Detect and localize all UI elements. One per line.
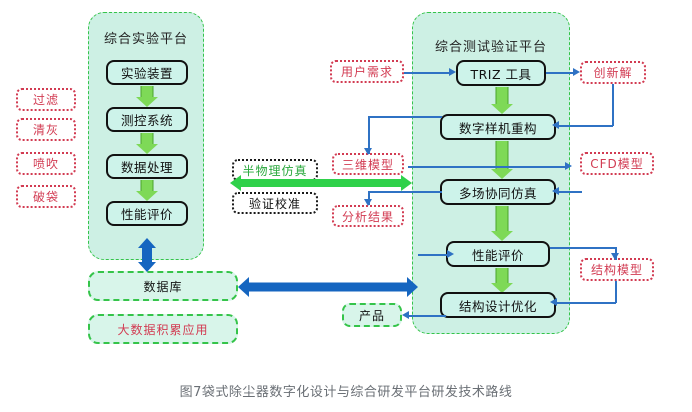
left-platform-title: 综合实验平台 (88, 28, 204, 47)
right-tag-innovative-solution: 创新解 (580, 61, 646, 84)
center-tag-3d-model: 三维模型 (332, 153, 404, 175)
right-flow-arrow-1 (490, 87, 514, 114)
left-platform-database-link (136, 238, 158, 272)
right-platform-title: 综合测试验证平台 (412, 36, 570, 55)
figure-canvas: 综合实验平台 实验装置 测控系统 数据处理 性能评价 过滤 清灰 喷吹 破袋 半… (0, 0, 692, 412)
right-step-2: 数字样机重构 (440, 114, 556, 140)
bottom-box-product: 产品 (342, 303, 402, 327)
line-prototype-out-left (408, 166, 566, 168)
line-structure-model-down (615, 281, 617, 303)
arrowhead-performance-in (447, 250, 454, 258)
right-tag-cfd-model: CFD模型 (580, 152, 654, 175)
arrowhead-prototype-in-right (552, 121, 559, 129)
left-step-3: 数据处理 (106, 154, 188, 179)
line-prototype-to-3d-model (368, 116, 442, 118)
arrowhead-multifield-in-right (552, 187, 559, 195)
database-right-platform-link (238, 276, 418, 297)
semi-physical-simulation-arrow (230, 174, 412, 191)
line-performance-to-structure (550, 247, 616, 249)
bottom-box-big-data-application: 大数据积累应用 (88, 314, 238, 344)
line-structure-to-optimization (556, 302, 616, 304)
left-step-1: 实验装置 (106, 60, 188, 85)
right-step-1: TRIZ 工具 (456, 60, 546, 86)
left-tag-pulse-jet: 喷吹 (16, 152, 76, 175)
line-multifield-out-left (368, 191, 442, 193)
left-flow-arrow-2 (136, 133, 158, 154)
arrowhead-optimization-in-right (550, 298, 557, 306)
right-flow-arrow-3 (490, 206, 514, 241)
line-triz-to-innovation (546, 72, 574, 74)
right-step-4: 性能评价 (446, 241, 550, 267)
figure-caption: 图7袋式除尘器数字化设计与综合研发平台研发技术路线 (0, 381, 692, 400)
line-cfd-to-multifield (558, 191, 582, 193)
line-optimization-to-product (408, 315, 446, 317)
left-step-2: 测控系统 (106, 107, 188, 132)
arrowhead-prototype-out-right (565, 162, 572, 170)
center-tag-analysis-result: 分析结果 (332, 205, 404, 227)
input-tag-user-requirement: 用户需求 (330, 60, 404, 83)
arrowhead-innovation-in (573, 68, 580, 76)
left-tag-filtration: 过滤 (16, 88, 76, 111)
line-performance-in-left (418, 254, 448, 256)
line-innovation-down (612, 84, 614, 126)
middle-tag-verification-calibration: 验证校准 (232, 192, 318, 214)
left-flow-arrow-1 (136, 86, 158, 107)
bottom-box-database: 数据库 (88, 271, 238, 301)
arrowhead-triz-in (449, 68, 456, 76)
left-tag-bag-rupture: 破袋 (16, 185, 76, 208)
arrowhead-product-in (402, 311, 409, 319)
right-tag-structure-model: 结构模型 (580, 258, 654, 281)
right-flow-arrow-4 (490, 268, 514, 293)
right-step-5: 结构设计优化 (440, 292, 556, 318)
arrowhead-3d-model-in (364, 148, 372, 155)
right-flow-arrow-2 (490, 141, 514, 179)
line-innovation-to-prototype (558, 125, 613, 127)
left-tag-dust-cleaning: 清灰 (16, 118, 76, 141)
line-user-req-to-triz (404, 72, 450, 74)
right-step-3: 多场协同仿真 (440, 179, 556, 205)
left-step-4: 性能评价 (106, 201, 188, 226)
left-flow-arrow-3 (136, 180, 158, 201)
arrowhead-analysis-result-in (364, 199, 372, 206)
arrowhead-structure-model-in (611, 253, 619, 260)
